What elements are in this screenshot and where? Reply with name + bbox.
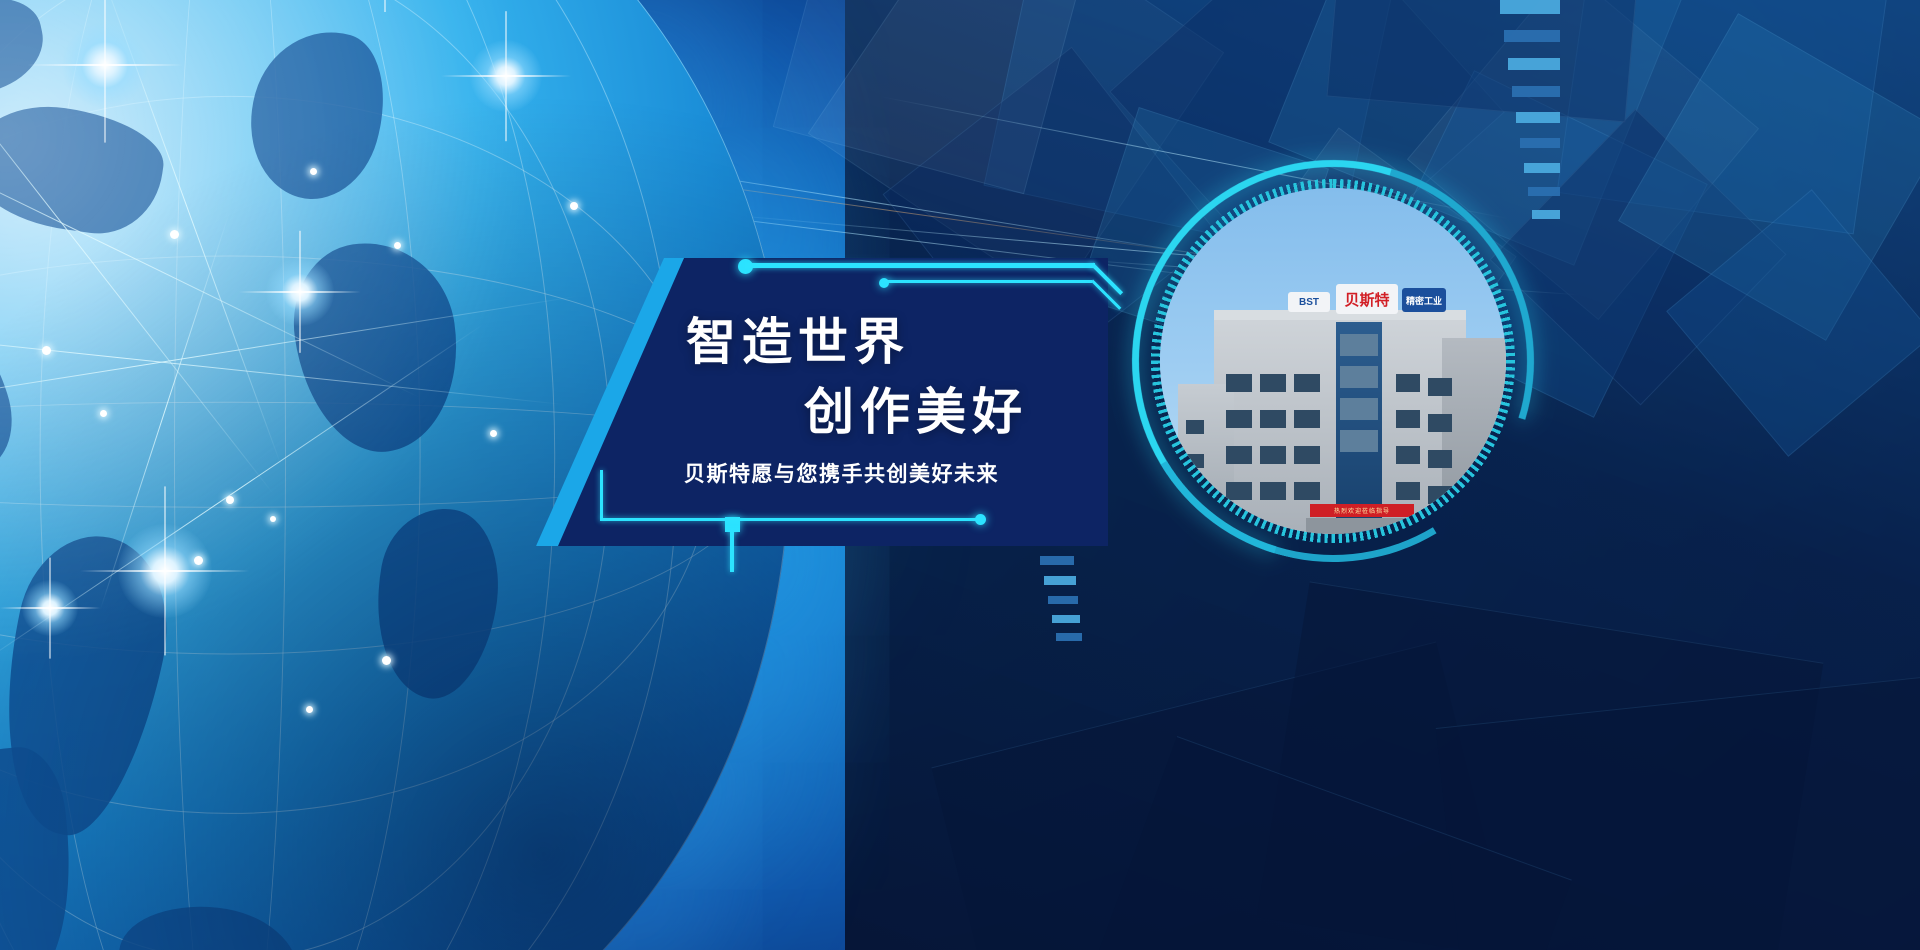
building-sign-left: BST <box>1288 292 1330 312</box>
hero-banner: 智造世界 创作美好 贝斯特愿与您携手共创美好未来 <box>0 0 1920 950</box>
headline-subtitle: 贝斯特愿与您携手共创美好未来 <box>684 458 999 488</box>
welcome-banner: 热烈欢迎莅临指导 <box>1310 504 1414 517</box>
building-sign-sub: 精密工业 <box>1402 288 1446 312</box>
company-building-photo: 贝斯特 精密工业 BST 热烈欢迎莅临指导 <box>1160 188 1506 534</box>
building-sign-main: 贝斯特 <box>1336 284 1398 314</box>
headline-panel: 智造世界 创作美好 贝斯特愿与您携手共创美好未来 <box>536 258 1108 546</box>
headline-line-1: 智造世界 <box>686 302 910 374</box>
circular-photo-frame: 贝斯特 精密工业 BST 热烈欢迎莅临指导 <box>1148 176 1518 546</box>
headline-line-2: 创作美好 <box>804 372 1028 444</box>
